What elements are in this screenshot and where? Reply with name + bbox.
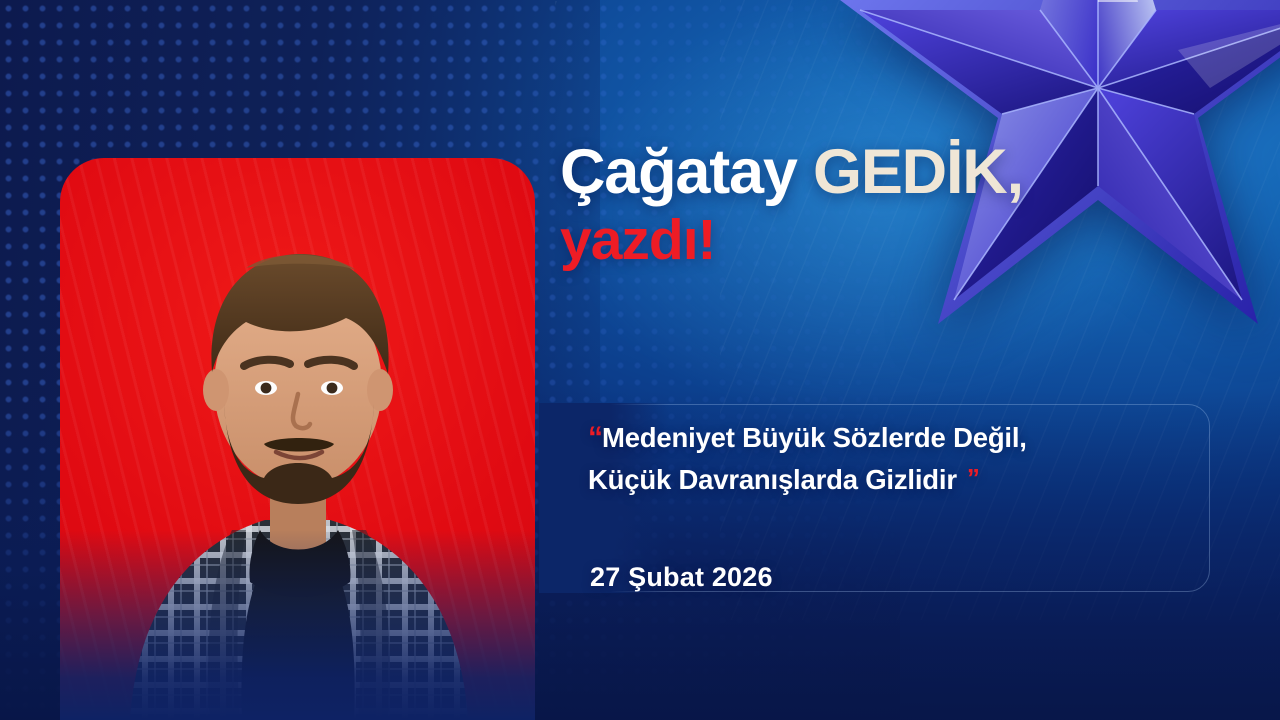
quote-line-1-text: Medeniyet Büyük Sözlerde Değil,: [602, 422, 1027, 453]
quote-line-2: Küçük Davranışlarda Gizlidir”: [588, 460, 1188, 500]
headline-block: Çağatay GEDİK, yazdı!: [560, 140, 1220, 269]
author-name-line: Çağatay GEDİK,: [560, 140, 1220, 204]
photo-card-background: [60, 158, 535, 720]
quote-line-2-text: Küçük Davranışlarda Gizlidir: [588, 464, 957, 495]
quote-block: “Medeniyet Büyük Sözlerde Değil, Küçük D…: [588, 416, 1188, 500]
author-first-name: Çağatay: [560, 137, 797, 207]
headline-verb: yazdı!: [560, 212, 1220, 269]
headline-comma: ,: [1007, 137, 1023, 207]
author-photo-card: [60, 158, 535, 720]
banner-stage: Çağatay GEDİK, yazdı! “Medeniyet Büyük S…: [0, 0, 1280, 720]
publish-date: 27 Şubat 2026: [590, 562, 773, 593]
quote-close-mark: ”: [967, 463, 979, 493]
quote-line-1: “Medeniyet Büyük Sözlerde Değil,: [588, 416, 1188, 460]
photo-card-bottom-fade: [60, 530, 535, 720]
author-last-name: GEDİK: [813, 137, 1007, 207]
quote-open-mark: “: [588, 421, 602, 454]
